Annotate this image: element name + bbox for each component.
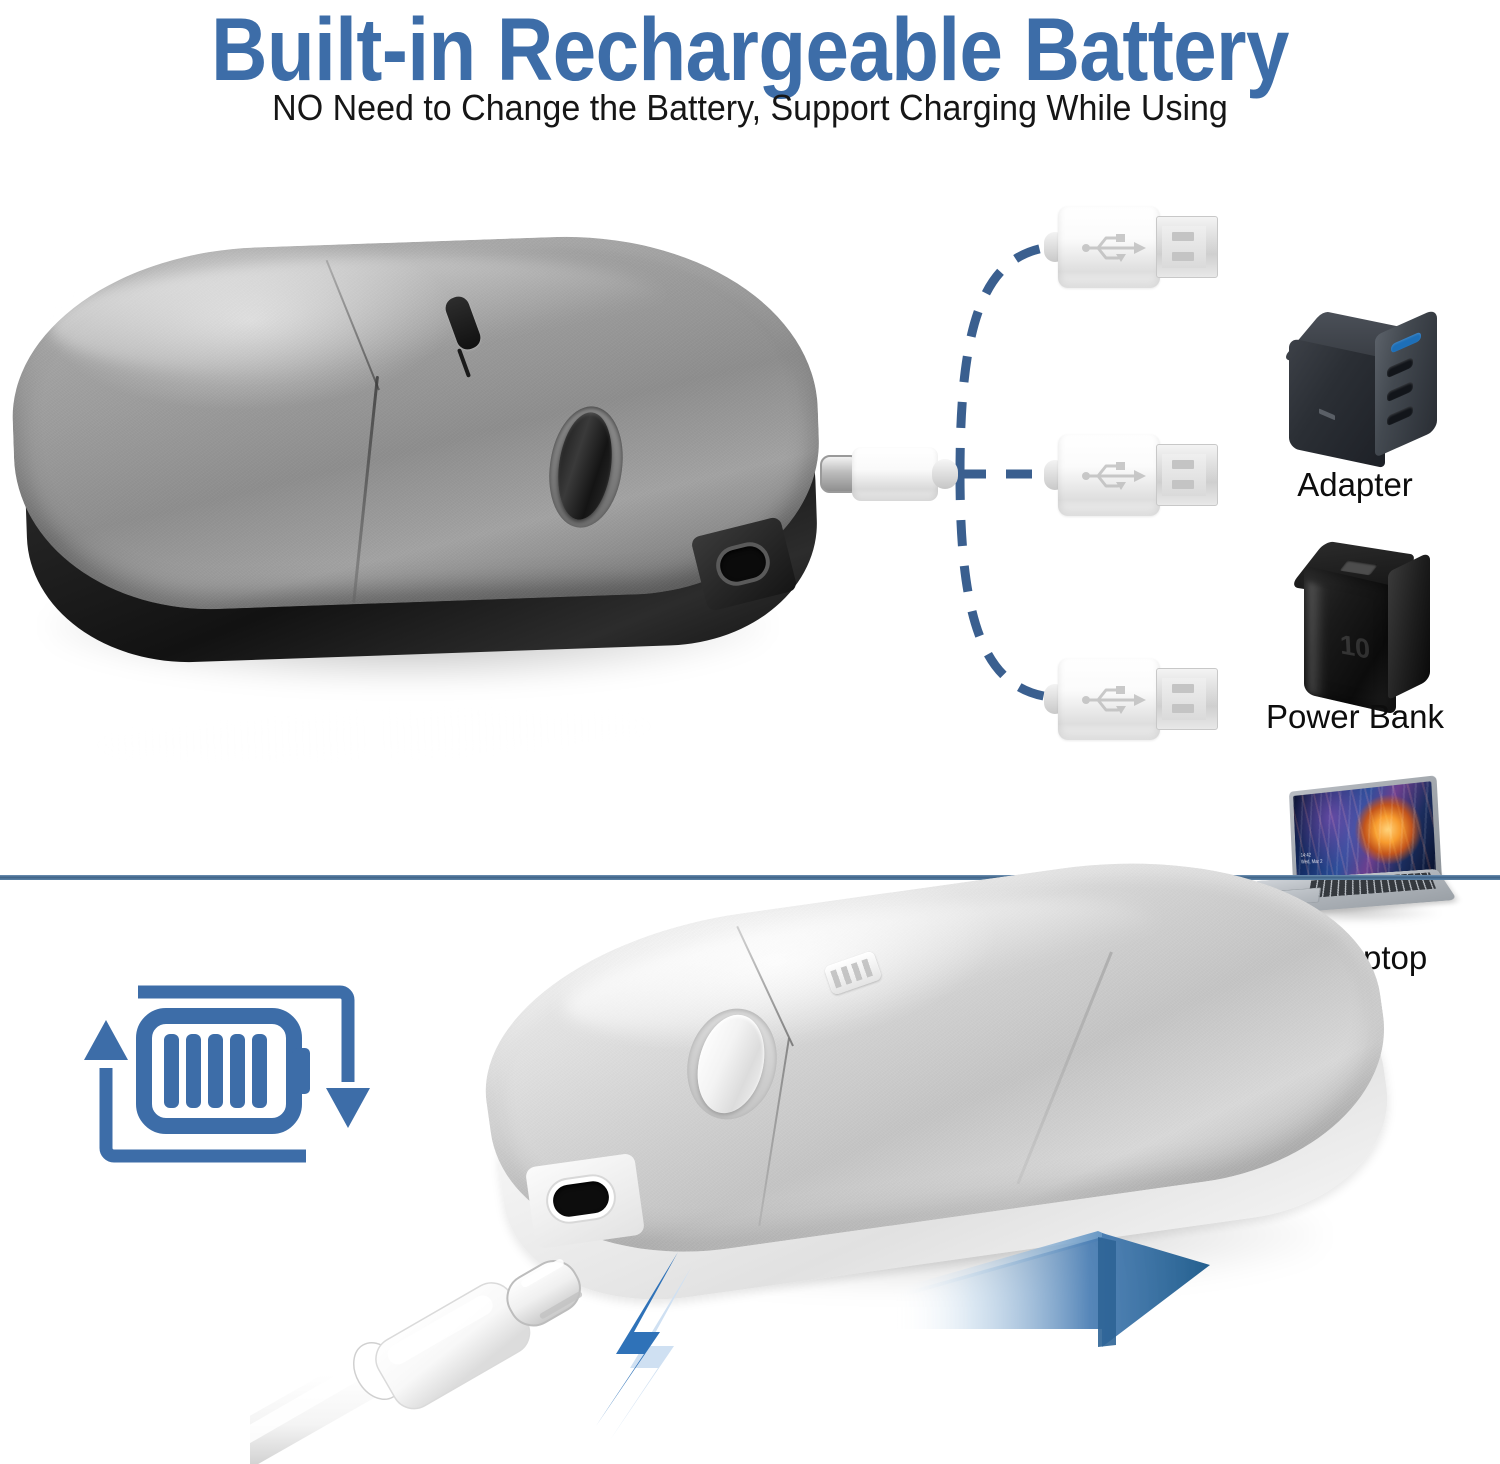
usb-c-plug-body bbox=[852, 447, 938, 501]
rechargeable-battery-icon bbox=[78, 964, 418, 1194]
adapter-prong bbox=[1319, 408, 1335, 420]
usb-logo-icon bbox=[1080, 680, 1150, 720]
up-arrow-icon bbox=[84, 1020, 128, 1060]
adapter-usb-a-port bbox=[1391, 331, 1421, 353]
battery-bar bbox=[252, 1034, 267, 1108]
charging-sources-panel: Adapter 10 Power Bank 14:42Wed, Mar 2 bbox=[0, 136, 1500, 875]
product-infographic: Built-in Rechargeable Battery NO Need to… bbox=[0, 0, 1500, 1464]
cable-cord bbox=[250, 1367, 368, 1464]
laptop-screen-clock: 14:42Wed, Mar 2 bbox=[1301, 852, 1323, 866]
mouse-base-highlight bbox=[94, 706, 655, 766]
usb-a-contact-pad bbox=[1172, 684, 1194, 693]
laptop-screen: 14:42Wed, Mar 2 bbox=[1293, 781, 1436, 877]
power-bank-capacity-marking: 10 bbox=[1339, 629, 1371, 666]
adapter-label: Adapter bbox=[1185, 466, 1500, 504]
adapter-usb-c-port bbox=[1387, 381, 1413, 403]
page-title: Built-in Rechargeable Battery bbox=[0, 0, 1500, 102]
page-subtitle: NO Need to Change the Battery, Support C… bbox=[0, 88, 1500, 129]
usb-a-shell bbox=[1058, 658, 1160, 740]
usb-a-contact-pad bbox=[1172, 252, 1194, 261]
down-arrow-icon bbox=[326, 1088, 370, 1128]
adapter-usb-c-port bbox=[1387, 357, 1413, 379]
adapter-port-face bbox=[1375, 308, 1437, 458]
usb-c-plug bbox=[820, 443, 960, 505]
lightning-bolt-icon bbox=[560, 1250, 760, 1440]
power-bank-icon: 10 bbox=[1292, 548, 1442, 713]
usb-logo-icon bbox=[1080, 228, 1150, 268]
power-bank-side-face bbox=[1388, 552, 1430, 700]
usb-logo-icon bbox=[1080, 456, 1150, 496]
usb-a-contact-pad bbox=[1172, 232, 1194, 241]
adapter-usb-c-port bbox=[1387, 405, 1413, 427]
usb-a-shell bbox=[1058, 434, 1160, 516]
usb-a-connector-adapter bbox=[1052, 204, 1220, 290]
laptop-lid: 14:42Wed, Mar 2 bbox=[1289, 775, 1442, 884]
battery-bar bbox=[164, 1034, 179, 1108]
power-bank-label: Power Bank bbox=[1185, 698, 1500, 736]
insert-direction-arrow-icon bbox=[880, 1195, 1210, 1405]
battery-bar bbox=[208, 1034, 223, 1108]
usb-a-shell bbox=[1058, 206, 1160, 288]
mouse-product-image-top bbox=[8, 236, 838, 706]
adapter-front-face bbox=[1289, 338, 1385, 468]
battery-bar bbox=[230, 1034, 245, 1108]
battery-bar bbox=[186, 1034, 201, 1108]
usb-c-plug-neck bbox=[932, 459, 958, 489]
power-bank-gloss bbox=[1308, 582, 1326, 698]
adapter-icon bbox=[1283, 314, 1443, 464]
